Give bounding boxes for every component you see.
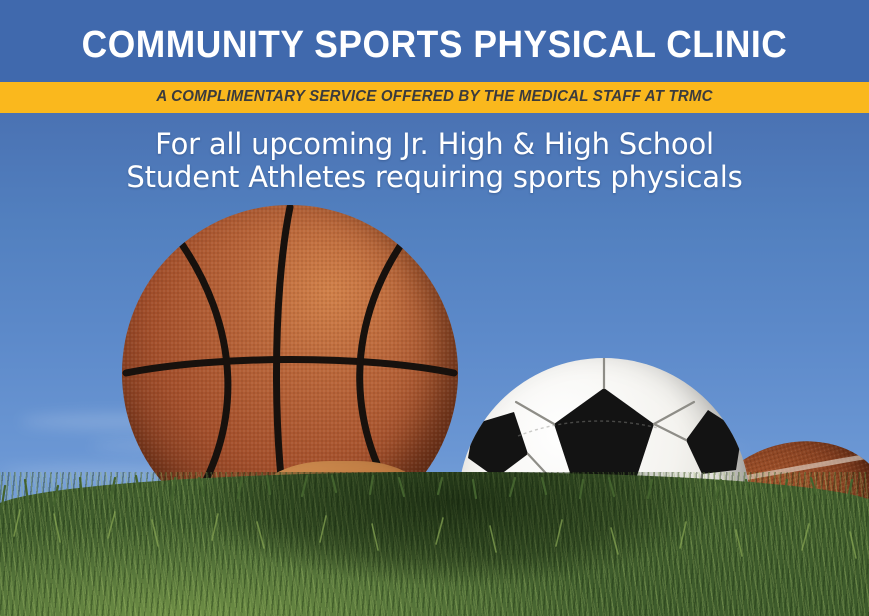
subtitle-text: A COMPLIMENTARY SERVICE OFFERED BY THE M… [26, 88, 843, 106]
grass-blade-tips [0, 472, 869, 616]
grass-field [0, 472, 869, 616]
body-copy-line-2: Student Athletes requiring sports physic… [0, 161, 869, 194]
sports-physical-clinic-poster: COMMUNITY SPORTS PHYSICAL CLINIC A COMPL… [0, 0, 869, 616]
body-copy-line-1: For all upcoming Jr. High & High School [0, 128, 869, 161]
body-copy: For all upcoming Jr. High & High School … [0, 128, 869, 194]
page-title: COMMUNITY SPORTS PHYSICAL CLINIC [30, 24, 838, 67]
